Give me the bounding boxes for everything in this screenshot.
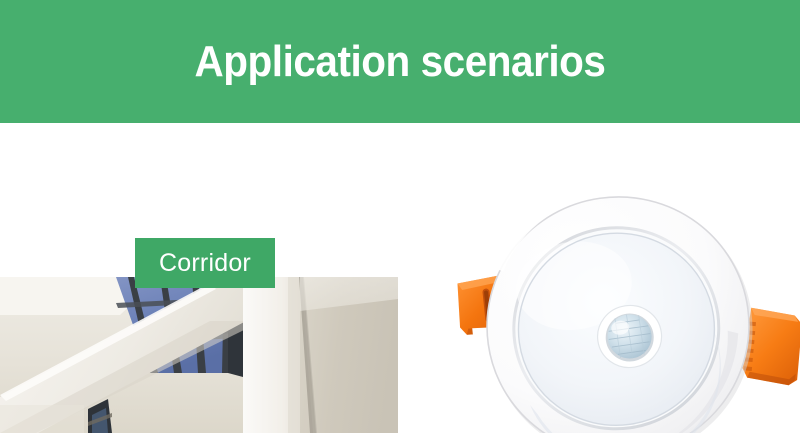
application-scenarios-page: Application scenarios [0,0,800,433]
header-banner: Application scenarios [0,0,800,123]
product-photo-downlight [440,130,800,433]
scenario-badge-label: Corridor [159,249,251,278]
scenario-photo-corridor [0,277,398,433]
corridor-interior-illustration [0,277,398,433]
led-downlight-illustration [440,130,800,433]
scenario-badge-corridor: Corridor [135,238,275,288]
page-title: Application scenarios [32,0,768,123]
